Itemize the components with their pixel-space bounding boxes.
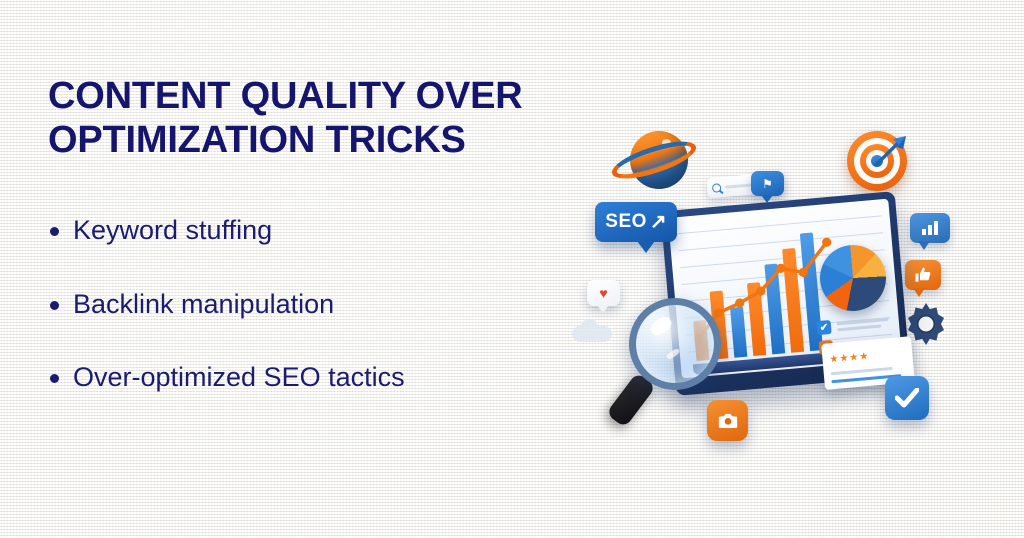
bookmark-bubble: ⚑: [751, 171, 784, 196]
thumbs-up-bubble: [905, 260, 941, 290]
star-rating: ★★★★: [829, 351, 870, 365]
page-title: CONTENT QUALITY OVER OPTIMIZATION TRICKS: [48, 74, 568, 162]
target-dart-icon: [847, 131, 907, 191]
bar-chart-bubble: [910, 213, 950, 243]
checkmark-icon[interactable]: [885, 376, 929, 420]
bullet-dot-icon: [50, 227, 59, 236]
saturn-planet-icon: [610, 125, 698, 199]
up-arrow-icon: ↗: [650, 212, 667, 232]
magnifier-lens: [629, 298, 721, 390]
page-title-line-1: CONTENT QUALITY OVER: [48, 74, 568, 118]
camera-icon[interactable]: [707, 400, 748, 441]
thumbs-up-icon: [914, 266, 932, 284]
bullet-list: Keyword stuffing Backlink manipulation O…: [48, 214, 568, 393]
seo-bubble: SEO ↗: [595, 202, 677, 242]
camera-glyph: [718, 412, 738, 429]
seo-illustration: ⚑ ♥: [565, 118, 1015, 468]
checklist-lines: [837, 317, 890, 330]
list-item: Keyword stuffing: [48, 214, 568, 246]
bullet-label: Over-optimized SEO tactics: [73, 361, 405, 393]
magnifying-glass-icon: [613, 298, 723, 423]
cloud-shape: [572, 326, 612, 342]
bullet-dot-icon: [50, 374, 59, 383]
search-icon: [712, 183, 722, 193]
text-column: CONTENT QUALITY OVER OPTIMIZATION TRICKS…: [48, 74, 568, 434]
page-title-line-2: OPTIMIZATION TRICKS: [48, 118, 568, 162]
check-glyph: [895, 388, 919, 408]
bullet-label: Backlink manipulation: [73, 288, 334, 320]
dart-arrow-icon: [873, 135, 907, 169]
bullet-dot-icon: [50, 301, 59, 310]
seo-label: SEO: [605, 211, 647, 233]
list-item: Backlink manipulation: [48, 288, 568, 320]
bar-chart-icon: [920, 220, 940, 236]
bullet-label: Keyword stuffing: [73, 214, 272, 246]
bookmark-icon: ⚑: [762, 177, 773, 191]
heart-icon: ♥: [599, 285, 607, 301]
checkbox-blue[interactable]: ✔: [817, 320, 832, 335]
list-item: Over-optimized SEO tactics: [48, 361, 568, 393]
